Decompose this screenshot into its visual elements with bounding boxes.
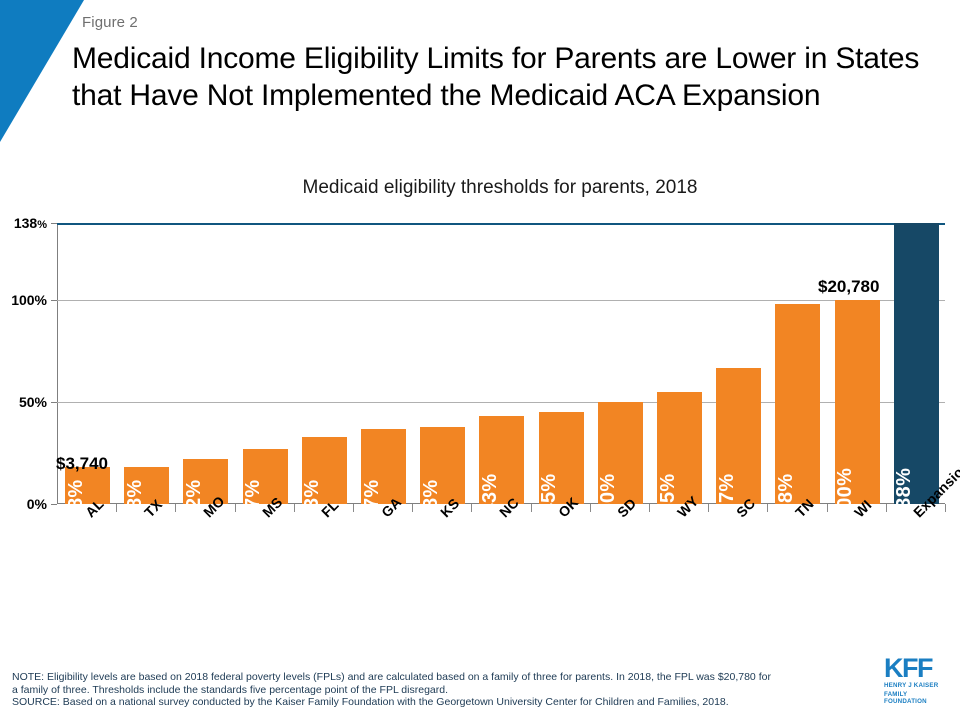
bar-expansion-states[interactable]: 138%	[894, 223, 939, 504]
bar-slot-fl: 33%	[295, 223, 354, 504]
bar-slot-sd: 50%	[591, 223, 650, 504]
bar-slot-wy: 55%	[650, 223, 709, 504]
bar-ga[interactable]: 37%	[361, 429, 406, 504]
y-axis-tick-138%	[51, 223, 57, 224]
annotation-right-dollar: $20,780	[818, 277, 879, 297]
bar-slot-tx: 18%	[117, 223, 176, 504]
page-title: Medicaid Income Eligibility Limits for P…	[72, 40, 942, 114]
bar-slot-wi: 100%	[828, 223, 887, 504]
chart-subtitle: Medicaid eligibility thresholds for pare…	[0, 177, 960, 199]
bars-layer: 18%18%22%27%33%37%38%43%45%50%55%67%98%1…	[58, 223, 945, 504]
kff-logo-subtitle-line-1: HENRY J KAISER	[884, 682, 950, 690]
bar-tx[interactable]: 18%	[124, 467, 169, 504]
bar-slot-ks: 38%	[413, 223, 472, 504]
y-axis-tick-0%	[51, 504, 57, 505]
bar-slot-tn: 98%	[768, 223, 827, 504]
annotation-left-dollar: $3,740	[56, 454, 108, 474]
y-axis-label-0%: 0%	[27, 496, 47, 512]
footer-note-line-1: NOTE: Eligibility levels are based on 20…	[12, 671, 872, 684]
bar-tn[interactable]: 98%	[775, 304, 820, 504]
bar-slot-sc: 67%	[709, 223, 768, 504]
bar-ms[interactable]: 27%	[243, 449, 288, 504]
footer-note-line-2: a family of three. Thresholds include th…	[12, 684, 872, 697]
footer-notes: NOTE: Eligibility levels are based on 20…	[12, 671, 872, 709]
y-axis-label-50%: 50%	[19, 394, 47, 410]
slide-canvas: Figure 2 Medicaid Income Eligibility Lim…	[0, 0, 960, 720]
bar-sd[interactable]: 50%	[598, 402, 643, 504]
x-axis-labels: ALTXMOMSFLGAKSNCOKSDWYSCTNWIExpansion St…	[58, 509, 945, 619]
kff-logo: KFF HENRY J KAISER FAMILY FOUNDATION	[884, 655, 950, 706]
bar-ks[interactable]: 38%	[420, 427, 465, 504]
y-axis-tick-100%	[51, 300, 57, 301]
y-axis-label-100%: 100%	[11, 292, 47, 308]
y-axis-label-138%: 138%	[14, 215, 47, 231]
bar-slot-ga: 37%	[354, 223, 413, 504]
bar-ok[interactable]: 45%	[539, 412, 584, 504]
bar-slot-mo: 22%	[176, 223, 235, 504]
chart-plot-area: 0%50%100%138% 18%18%22%27%33%37%38%43%45…	[57, 223, 945, 503]
bar-slot-ok: 45%	[532, 223, 591, 504]
x-axis-tick-15	[945, 504, 946, 512]
bar-wi[interactable]: 100%	[835, 300, 880, 504]
figure-label: Figure 2	[82, 14, 138, 31]
bar-slot-nc: 43%	[472, 223, 531, 504]
bar-fl[interactable]: 33%	[302, 437, 347, 504]
kff-logo-subtitle-line-2: FAMILY FOUNDATION	[884, 691, 950, 706]
bar-nc[interactable]: 43%	[479, 416, 524, 504]
bar-slot-ms: 27%	[236, 223, 295, 504]
bar-wy[interactable]: 55%	[657, 392, 702, 504]
bar-slot-expansion-states: 138%	[887, 223, 946, 504]
kff-logo-mark: KFF	[884, 655, 950, 681]
y-axis-tick-50%	[51, 402, 57, 403]
bar-sc[interactable]: 67%	[716, 368, 761, 504]
footer-source-line: SOURCE: Based on a national survey condu…	[12, 696, 872, 709]
